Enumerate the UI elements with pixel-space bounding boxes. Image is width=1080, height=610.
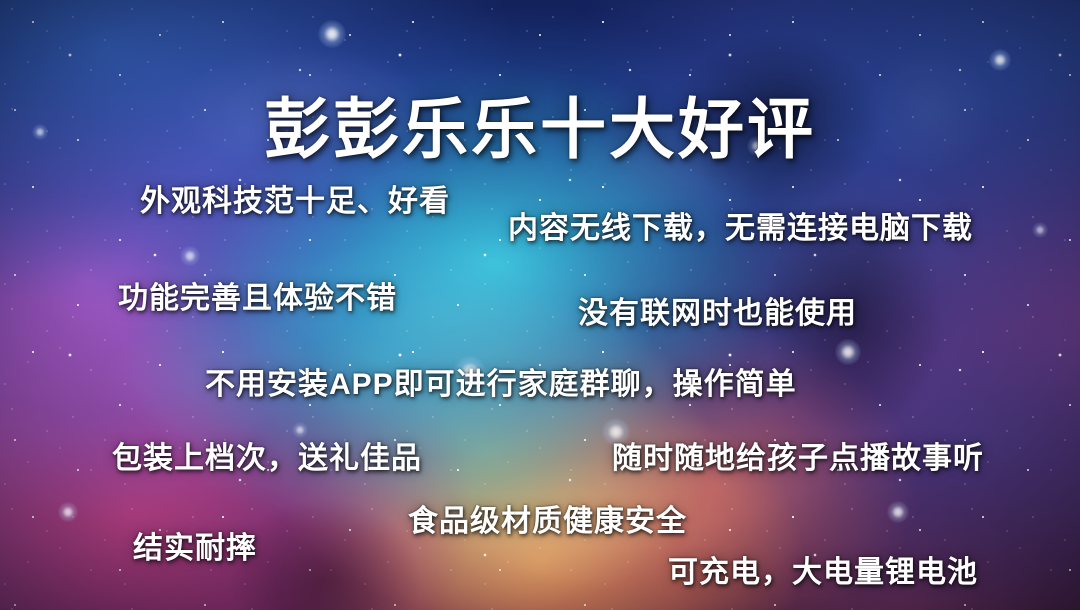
bright-star-2 xyxy=(58,502,77,521)
feature-text-wireless: 内容无线下载，无需连接电脑下载 xyxy=(508,212,973,245)
bright-star-3 xyxy=(835,339,861,365)
bright-star-6 xyxy=(887,501,909,523)
bright-star-1 xyxy=(989,49,1011,71)
poster-canvas: 彭彭乐乐十大好评 外观科技范十足、好看内容无线下载，无需连接电脑下载功能完善且体… xyxy=(0,0,1080,610)
feature-text-groupchat: 不用安装APP即可进行家庭群聊，操作简单 xyxy=(205,368,797,401)
feature-text-foodgrade: 食品级材质健康安全 xyxy=(408,505,687,538)
feature-text-durable: 结实耐摔 xyxy=(133,532,257,565)
bright-star-11 xyxy=(1032,222,1048,238)
feature-text-appearance: 外观科技范十足、好看 xyxy=(140,185,450,218)
page-title: 彭彭乐乐十大好评 xyxy=(0,96,1080,162)
feature-text-packaging: 包装上档次，送礼佳品 xyxy=(112,442,422,475)
feature-text-battery: 可充电，大电量锂电池 xyxy=(668,556,978,589)
bright-star-8 xyxy=(292,422,308,438)
bright-star-7 xyxy=(180,246,199,265)
feature-text-stories: 随时随地给孩子点播故事听 xyxy=(612,442,984,475)
feature-text-functions: 功能完善且体验不错 xyxy=(118,282,397,315)
bright-star-0 xyxy=(318,20,347,49)
feature-text-offline: 没有联网时也能使用 xyxy=(578,297,857,330)
